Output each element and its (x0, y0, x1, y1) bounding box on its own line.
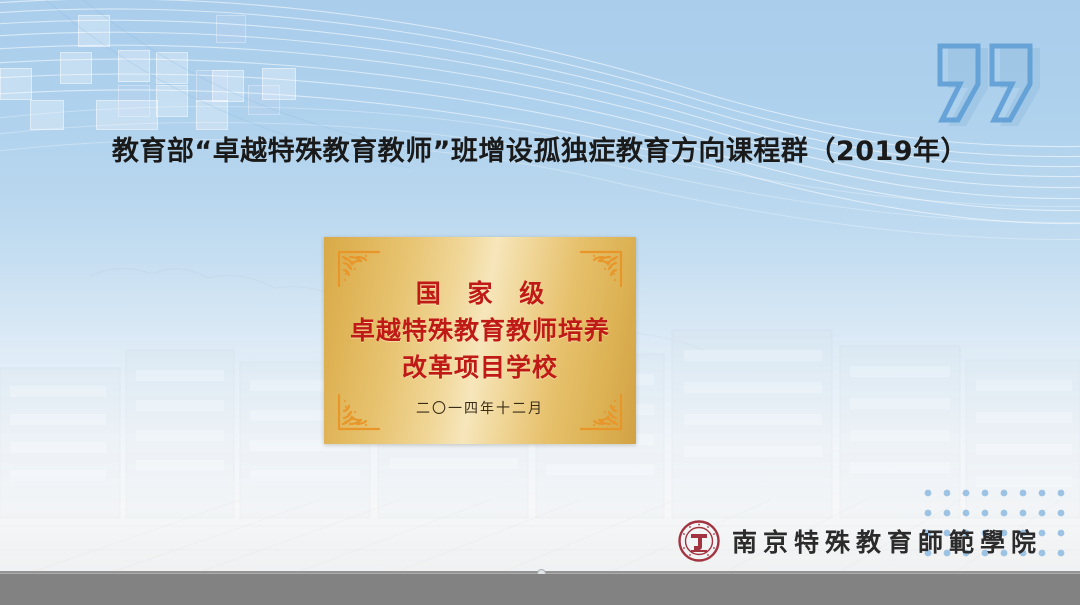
plaque-line-1: 国 家 级 (324, 277, 636, 311)
footer-bar (0, 574, 1080, 605)
university-seal-icon (678, 520, 720, 562)
award-plaque: 国 家 级 卓越特殊教育教师培养 改革项目学校 二〇一四年十二月 (324, 237, 636, 444)
plaque-date: 二〇一四年十二月 (324, 398, 636, 418)
plaque-line-3: 改革项目学校 (324, 351, 636, 385)
university-branding: 南京特殊教育師範學院 (678, 520, 1042, 562)
plaque-line-2: 卓越特殊教育教师培养 (324, 314, 636, 348)
presentation-slide: 教育部“卓越特殊教育教师”班增设孤独症教育方向课程群（2019年） (0, 0, 1080, 605)
university-name: 南京特殊教育師範學院 (732, 523, 1042, 559)
slide-title: 教育部“卓越特殊教育教师”班增设孤独症教育方向课程群（2019年） (0, 129, 1080, 168)
quote-mark-icon (932, 42, 1052, 137)
plaque-text-block: 国 家 级 卓越特殊教育教师培养 改革项目学校 二〇一四年十二月 (324, 277, 636, 418)
